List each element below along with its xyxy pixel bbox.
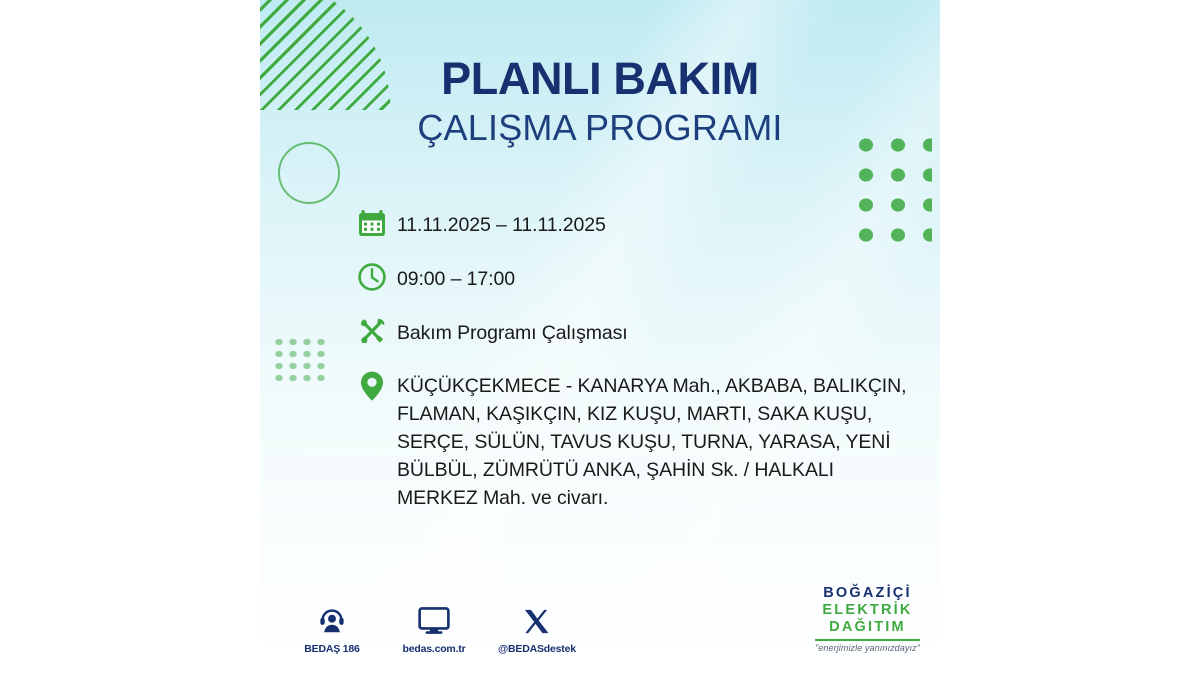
- location-pin-icon: [355, 370, 389, 404]
- planned-maintenance-poster: PLANLI BAKIM ÇALIŞMA PROGRAMI: [260, 0, 940, 675]
- contact-channel-website[interactable]: bedas.com.tr: [396, 601, 472, 655]
- calendar-icon: [355, 208, 389, 242]
- contact-channel-phone-label: BEDAŞ 186: [294, 643, 370, 655]
- contact-channel-website-label: bedas.com.tr: [396, 643, 472, 655]
- tools-icon: [355, 316, 389, 350]
- maintenance-date-range: 11.11.2025 – 11.11.2025: [397, 208, 606, 240]
- logo-line-dagitim: DAĞITIM: [815, 619, 920, 636]
- logo-line-elektrik: ELEKTRİK: [815, 602, 920, 619]
- maintenance-time-range: 09:00 – 17:00: [397, 262, 515, 294]
- contact-channel-phone[interactable]: BEDAŞ 186: [294, 601, 370, 655]
- info-row-date: 11.11.2025 – 11.11.2025: [355, 208, 918, 242]
- dot-grid-left-decoration: [270, 334, 326, 386]
- maintenance-affected-area: KÜÇÜKÇEKMECE - KANARYA Mah., AKBABA, BAL…: [397, 370, 918, 512]
- monitor-icon: [396, 601, 472, 635]
- info-list: 11.11.2025 – 11.11.2025 09:00 – 17:00: [355, 208, 918, 512]
- contact-channel-x[interactable]: @BEDASdestek: [498, 601, 574, 655]
- contact-channels: BEDAŞ 186 bedas.com.tr: [294, 601, 574, 655]
- info-row-location: KÜÇÜKÇEKMECE - KANARYA Mah., AKBABA, BAL…: [355, 370, 918, 512]
- circle-outline-decoration: [278, 142, 340, 204]
- screenshot-canvas: PLANLI BAKIM ÇALIŞMA PROGRAMI: [0, 0, 1200, 675]
- contact-channel-x-label: @BEDASdestek: [498, 643, 574, 655]
- logo-divider: [815, 639, 920, 641]
- clock-icon: [355, 262, 389, 296]
- x-twitter-icon: [498, 601, 574, 635]
- bedas-logo: BOĞAZİÇİ ELEKTRİK DAĞITIM "enerjimizle y…: [815, 585, 920, 653]
- page-subtitle: ÇALIŞMA PROGRAMI: [260, 109, 940, 148]
- logo-line-bogazici: BOĞAZİÇİ: [815, 585, 920, 602]
- info-row-time: 09:00 – 17:00: [355, 262, 918, 296]
- page-title: PLANLI BAKIM: [260, 56, 940, 103]
- headset-support-icon: [294, 601, 370, 635]
- info-row-worktype: Bakım Programı Çalışması: [355, 316, 918, 350]
- maintenance-work-type: Bakım Programı Çalışması: [397, 316, 628, 348]
- poster-header: PLANLI BAKIM ÇALIŞMA PROGRAMI: [260, 56, 940, 148]
- logo-tagline: "enerjimizle yanınızdayız": [815, 643, 920, 653]
- poster-footer: BEDAŞ 186 bedas.com.tr: [260, 583, 940, 663]
